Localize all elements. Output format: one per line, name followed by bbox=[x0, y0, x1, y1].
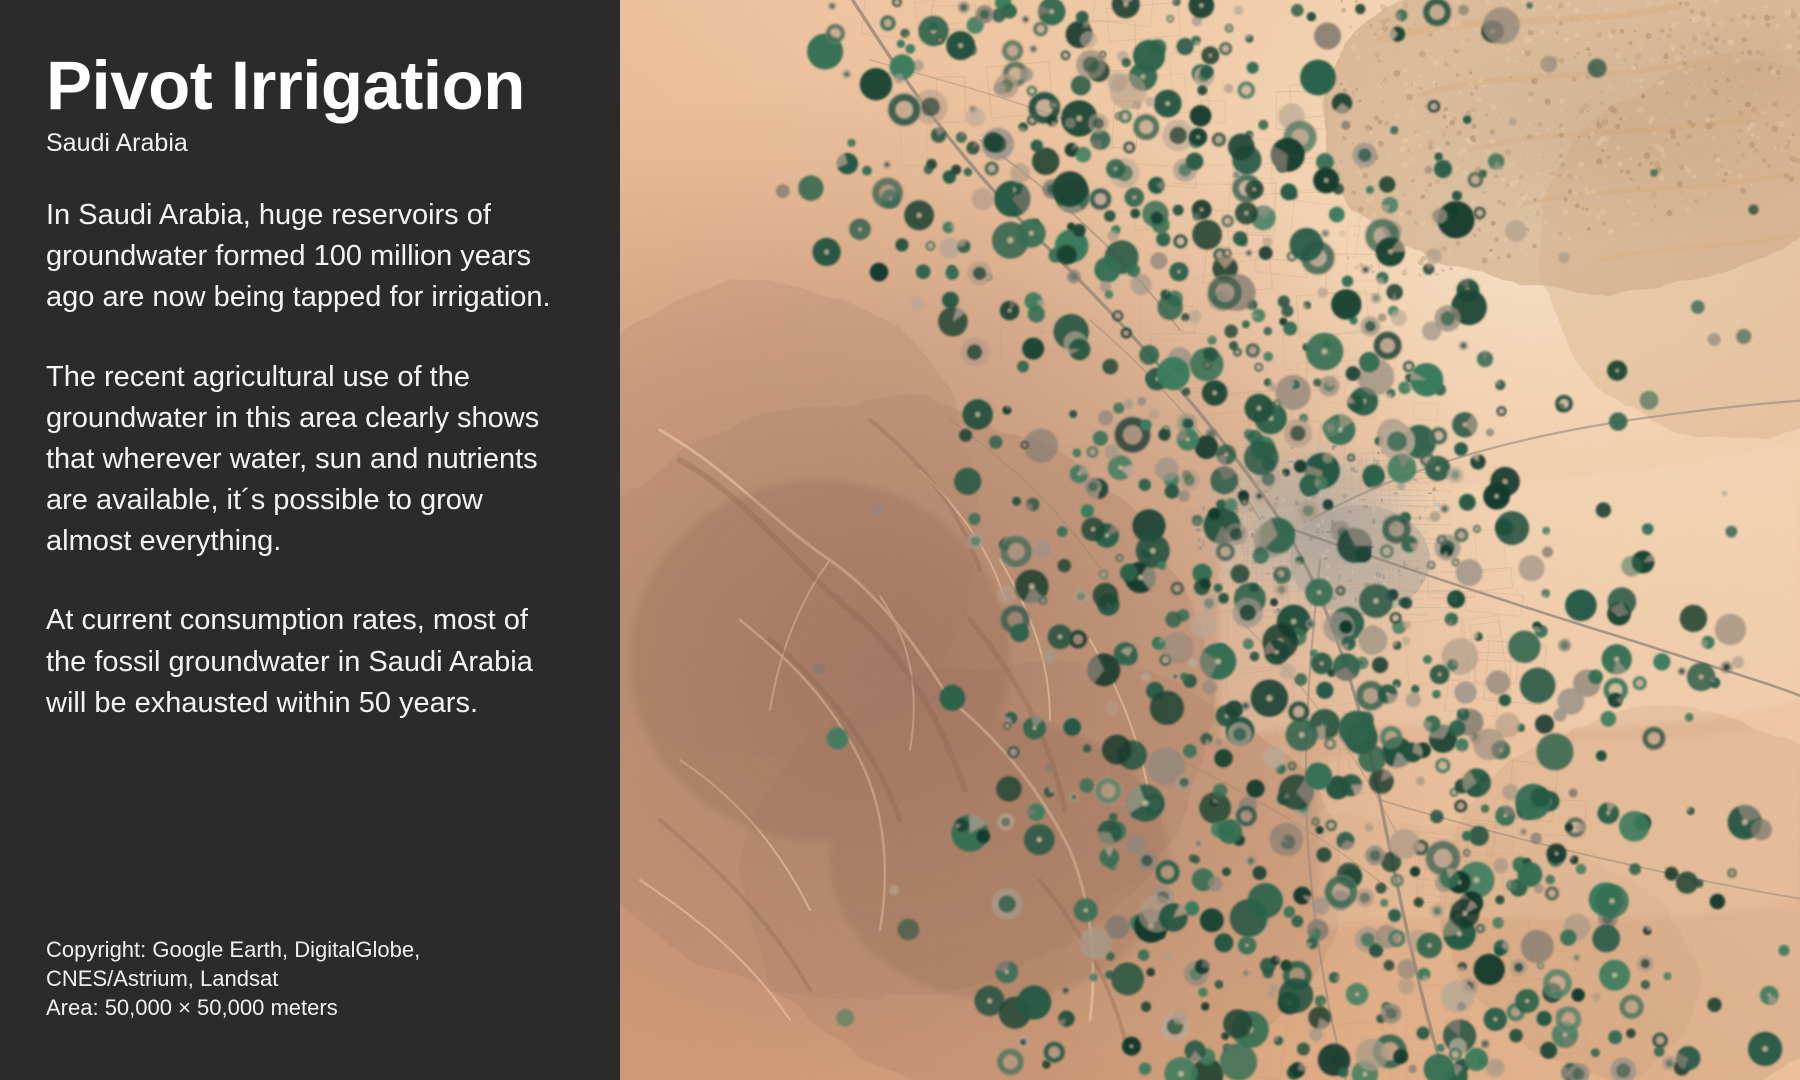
page-subtitle: Saudi Arabia bbox=[46, 130, 574, 158]
body-paragraph-1: In Saudi Arabia, huge reservoirs of grou… bbox=[46, 195, 574, 319]
poster-root: Pivot Irrigation Saudi Arabia In Saudi A… bbox=[0, 0, 1800, 1080]
info-panel: Pivot Irrigation Saudi Arabia In Saudi A… bbox=[0, 0, 620, 1080]
copyright-line-1: Copyright: Google Earth, DigitalGlobe, bbox=[46, 935, 420, 964]
credits-block: Copyright: Google Earth, DigitalGlobe, C… bbox=[46, 935, 420, 1022]
satellite-image-panel bbox=[620, 0, 1800, 1080]
page-title: Pivot Irrigation bbox=[46, 52, 574, 120]
copyright-line-2: CNES/Astrium, Landsat bbox=[46, 964, 420, 993]
area-line: Area: 50,000 × 50,000 meters bbox=[46, 993, 420, 1022]
body-paragraph-3: At current consumption rates, most of th… bbox=[46, 600, 574, 724]
body-paragraph-2: The recent agricultural use of the groun… bbox=[46, 357, 574, 563]
satellite-image bbox=[620, 0, 1800, 1080]
